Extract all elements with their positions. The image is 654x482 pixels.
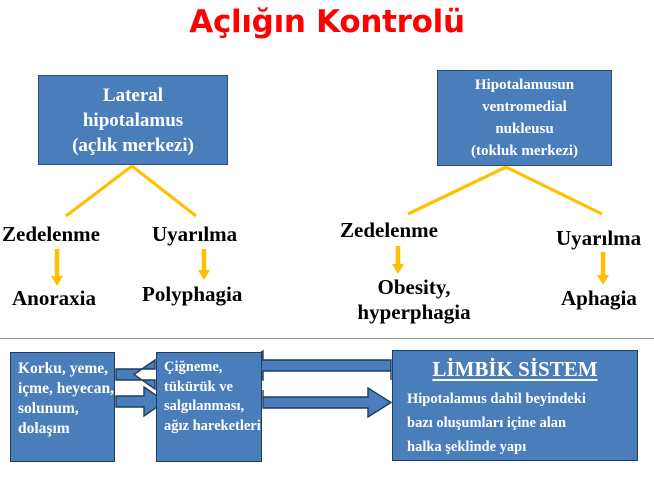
box-cigneme-tukuruk[interactable]: Çiğneme, tükürük ve salgılanması, ağız h… bbox=[156, 352, 262, 462]
label-polyphagia: Polyphagia bbox=[142, 282, 242, 307]
box-vmn-line1: Hipotalamusun bbox=[475, 74, 574, 96]
box-korku-line1: Korku, bbox=[18, 360, 66, 377]
limbik-title: LİMBİK SİSTEM bbox=[393, 351, 637, 381]
label-right-uyarilma: Uyarılma bbox=[556, 226, 641, 251]
box-cigneme-line2: tükürük ve bbox=[164, 379, 233, 395]
box-cigneme-line5: hareketleri bbox=[193, 418, 261, 434]
section-divider bbox=[0, 338, 654, 339]
box-vmn-line2: ventromedial bbox=[482, 96, 567, 118]
label-left-zedelenme: Zedelenme bbox=[2, 222, 100, 247]
box-lateral-line3: (açlık merkezi) bbox=[72, 133, 194, 158]
limbik-body: Hipotalamus dahil beyindeki bazı oluşuml… bbox=[393, 381, 637, 459]
box-korku-line3: heyecan, bbox=[57, 380, 114, 397]
box-lateral-line2: hipotalamus bbox=[83, 108, 183, 133]
limbik-body-line2: bazı oluşumları içine alan bbox=[407, 411, 637, 435]
page-title: Açlığın Kontrolü bbox=[0, 2, 654, 42]
box-vmn-line3: nukleusu bbox=[495, 118, 553, 140]
box-limbik-sistem[interactable]: LİMBİK SİSTEM Hipotalamus dahil beyindek… bbox=[392, 350, 638, 461]
limbik-body-line3: halka şeklinde yapı bbox=[407, 435, 637, 459]
connector-lines bbox=[0, 0, 654, 340]
box-lateral-line1: Lateral bbox=[103, 83, 163, 108]
box-lateral-hypothalamus[interactable]: Lateral hipotalamus (açlık merkezi) bbox=[38, 75, 228, 165]
box-ventromedial-nucleus[interactable]: Hipotalamusun ventromedial nukleusu (tok… bbox=[437, 70, 612, 166]
label-anoraxia: Anoraxia bbox=[12, 286, 96, 311]
label-left-uyarilma: Uyarılma bbox=[152, 222, 237, 247]
box-cigneme-line4: ağız bbox=[164, 418, 189, 434]
slide-canvas: Açlığın Kontrolü Lateral hipotalamus (aç… bbox=[0, 0, 654, 482]
limbik-body-line1: Hipotalamus dahil beyindeki bbox=[407, 387, 637, 411]
label-obesity-line2: hyperphagia bbox=[357, 300, 470, 324]
box-vmn-line4: (tokluk merkezi) bbox=[471, 140, 578, 162]
box-cigneme-line1: Çiğneme, bbox=[164, 359, 222, 375]
box-korku-line5: dolaşım bbox=[18, 420, 70, 437]
label-aphagia: Aphagia bbox=[561, 286, 637, 311]
label-obesity-hyperphagia: Obesity, hyperphagia bbox=[344, 275, 484, 325]
label-right-zedelenme: Zedelenme bbox=[340, 218, 438, 243]
box-korku-yeme[interactable]: Korku, yeme, içme, heyecan, solunum, dol… bbox=[10, 352, 115, 462]
box-korku-line4: solunum, bbox=[18, 400, 79, 417]
label-obesity-line1: Obesity, bbox=[378, 275, 451, 299]
box-cigneme-line3: salgılanması, bbox=[164, 398, 244, 414]
